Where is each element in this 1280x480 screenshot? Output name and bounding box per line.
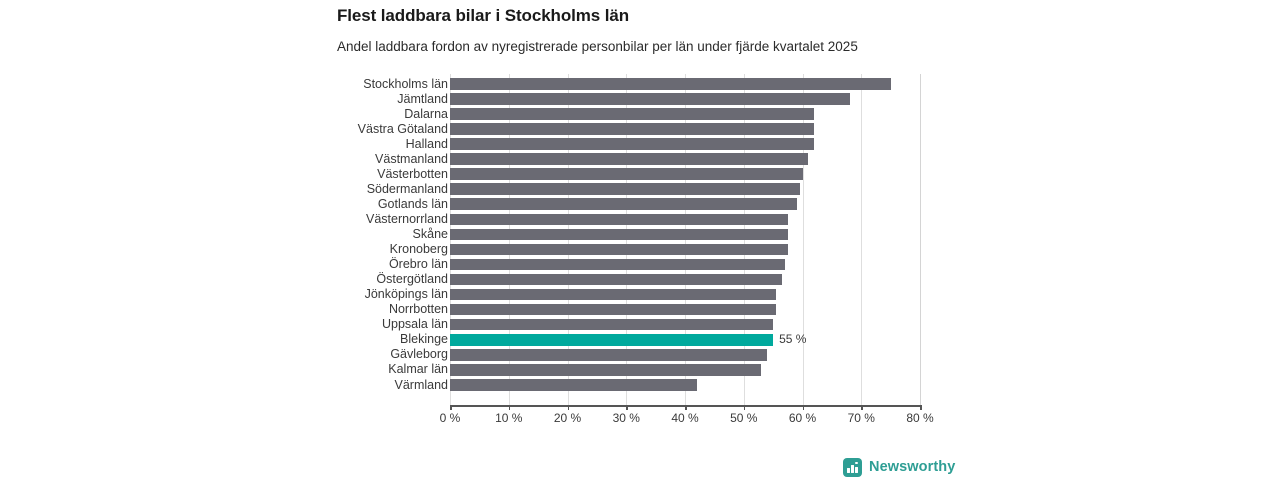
bar[interactable] <box>450 153 808 165</box>
bar-chart: Stockholms länJämtlandDalarnaVästra Göta… <box>0 74 1280 414</box>
brand-footer: Newsworthy <box>843 458 955 477</box>
y-axis-label: Södermanland <box>367 182 448 197</box>
bar-row[interactable]: 55 % <box>450 332 920 347</box>
bar[interactable] <box>450 364 761 376</box>
y-axis-label: Skåne <box>413 227 448 242</box>
bar-row[interactable] <box>450 227 920 242</box>
x-axis-tick-label: 30 % <box>613 411 640 425</box>
y-axis-label: Västerbotten <box>377 167 448 182</box>
bar[interactable] <box>450 304 776 316</box>
x-axis-tick-label: 80 % <box>906 411 933 425</box>
y-axis-label: Östergötland <box>376 272 448 287</box>
x-axis-tick <box>861 405 863 410</box>
bar-row[interactable] <box>450 197 920 212</box>
bar-row[interactable] <box>450 378 920 393</box>
bar[interactable] <box>450 214 788 226</box>
x-axis-tick <box>509 405 511 410</box>
logo-dot <box>855 462 858 465</box>
bar-row[interactable] <box>450 287 920 302</box>
x-axis-tick-label: 10 % <box>495 411 522 425</box>
y-axis-label: Gävleborg <box>390 347 448 362</box>
plot-area: 55 % <box>450 74 920 405</box>
bar-row[interactable] <box>450 92 920 107</box>
bar-row[interactable] <box>450 362 920 377</box>
y-axis-label: Stockholms län <box>363 77 448 92</box>
bar-row[interactable] <box>450 107 920 122</box>
bar[interactable] <box>450 168 803 180</box>
y-axis-label: Halland <box>406 137 448 152</box>
x-axis-tick <box>568 405 570 410</box>
chart-page: Flest laddbara bilar i Stockholms län An… <box>0 0 1280 480</box>
brand-name: Newsworthy <box>869 458 955 477</box>
bar-row[interactable] <box>450 182 920 197</box>
bar[interactable] <box>450 198 797 210</box>
bar-row[interactable] <box>450 317 920 332</box>
x-axis-tick-label: 50 % <box>730 411 757 425</box>
bar[interactable] <box>450 183 800 195</box>
x-axis-tick-label: 60 % <box>789 411 816 425</box>
y-axis-label: Västra Götaland <box>358 122 448 137</box>
y-axis-label: Jämtland <box>397 92 448 107</box>
y-axis-labels: Stockholms länJämtlandDalarnaVästra Göta… <box>330 74 448 405</box>
bar-row[interactable] <box>450 257 920 272</box>
bar-row[interactable] <box>450 167 920 182</box>
y-axis-label: Blekinge <box>400 332 448 347</box>
x-axis-tick-label: 0 % <box>440 411 461 425</box>
y-axis-label: Gotlands län <box>378 197 448 212</box>
x-axis-tick <box>744 405 746 410</box>
x-axis-tick <box>920 405 922 410</box>
x-axis-tick-label: 20 % <box>554 411 581 425</box>
chart-subtitle: Andel laddbara fordon av nyregistrerade … <box>337 26 1037 55</box>
y-axis-label: Norrbotten <box>389 302 448 317</box>
bar-row[interactable] <box>450 272 920 287</box>
bar-chart-logo-icon <box>843 458 862 477</box>
y-axis-label: Kalmar län <box>388 362 448 377</box>
bar-row[interactable] <box>450 77 920 92</box>
y-axis-label: Jönköpings län <box>365 287 448 302</box>
x-axis-tick-label: 70 % <box>848 411 875 425</box>
bar[interactable] <box>450 259 785 271</box>
y-axis-label: Västmanland <box>375 152 448 167</box>
bar-row[interactable] <box>450 122 920 137</box>
bar-row[interactable] <box>450 212 920 227</box>
bar-row[interactable] <box>450 242 920 257</box>
y-axis-label: Örebro län <box>389 257 448 272</box>
bar[interactable] <box>450 108 814 120</box>
bar-highlighted[interactable] <box>450 334 773 346</box>
bar[interactable] <box>450 138 814 150</box>
bar-value-label: 55 % <box>779 332 806 347</box>
bar[interactable] <box>450 93 850 105</box>
bar[interactable] <box>450 274 782 286</box>
y-axis-label: Värmland <box>395 378 449 393</box>
gridline-80 <box>920 74 921 405</box>
bar-row[interactable] <box>450 152 920 167</box>
y-axis-label: Västernorrland <box>366 212 448 227</box>
bar-row[interactable] <box>450 137 920 152</box>
bar-row[interactable] <box>450 347 920 362</box>
bar[interactable] <box>450 244 788 256</box>
bar[interactable] <box>450 379 697 391</box>
x-axis-tick <box>803 405 805 410</box>
bar[interactable] <box>450 319 773 331</box>
y-axis-label: Dalarna <box>404 107 448 122</box>
x-axis-tick <box>626 405 628 410</box>
y-axis-label: Kronoberg <box>390 242 448 257</box>
bar-row[interactable] <box>450 302 920 317</box>
y-axis-label: Uppsala län <box>382 317 448 332</box>
x-axis-tick <box>450 405 452 410</box>
bar[interactable] <box>450 123 814 135</box>
logo-bar-1 <box>847 468 850 473</box>
chart-header: Flest laddbara bilar i Stockholms län An… <box>337 0 1037 55</box>
bar[interactable] <box>450 229 788 241</box>
logo-bar-3 <box>855 467 858 473</box>
logo-bar-2 <box>851 465 854 473</box>
x-axis-tick-label: 40 % <box>671 411 698 425</box>
bar[interactable] <box>450 289 776 301</box>
bar[interactable] <box>450 349 767 361</box>
bar[interactable] <box>450 78 891 90</box>
chart-title: Flest laddbara bilar i Stockholms län <box>337 0 1037 26</box>
x-axis-tick <box>685 405 687 410</box>
